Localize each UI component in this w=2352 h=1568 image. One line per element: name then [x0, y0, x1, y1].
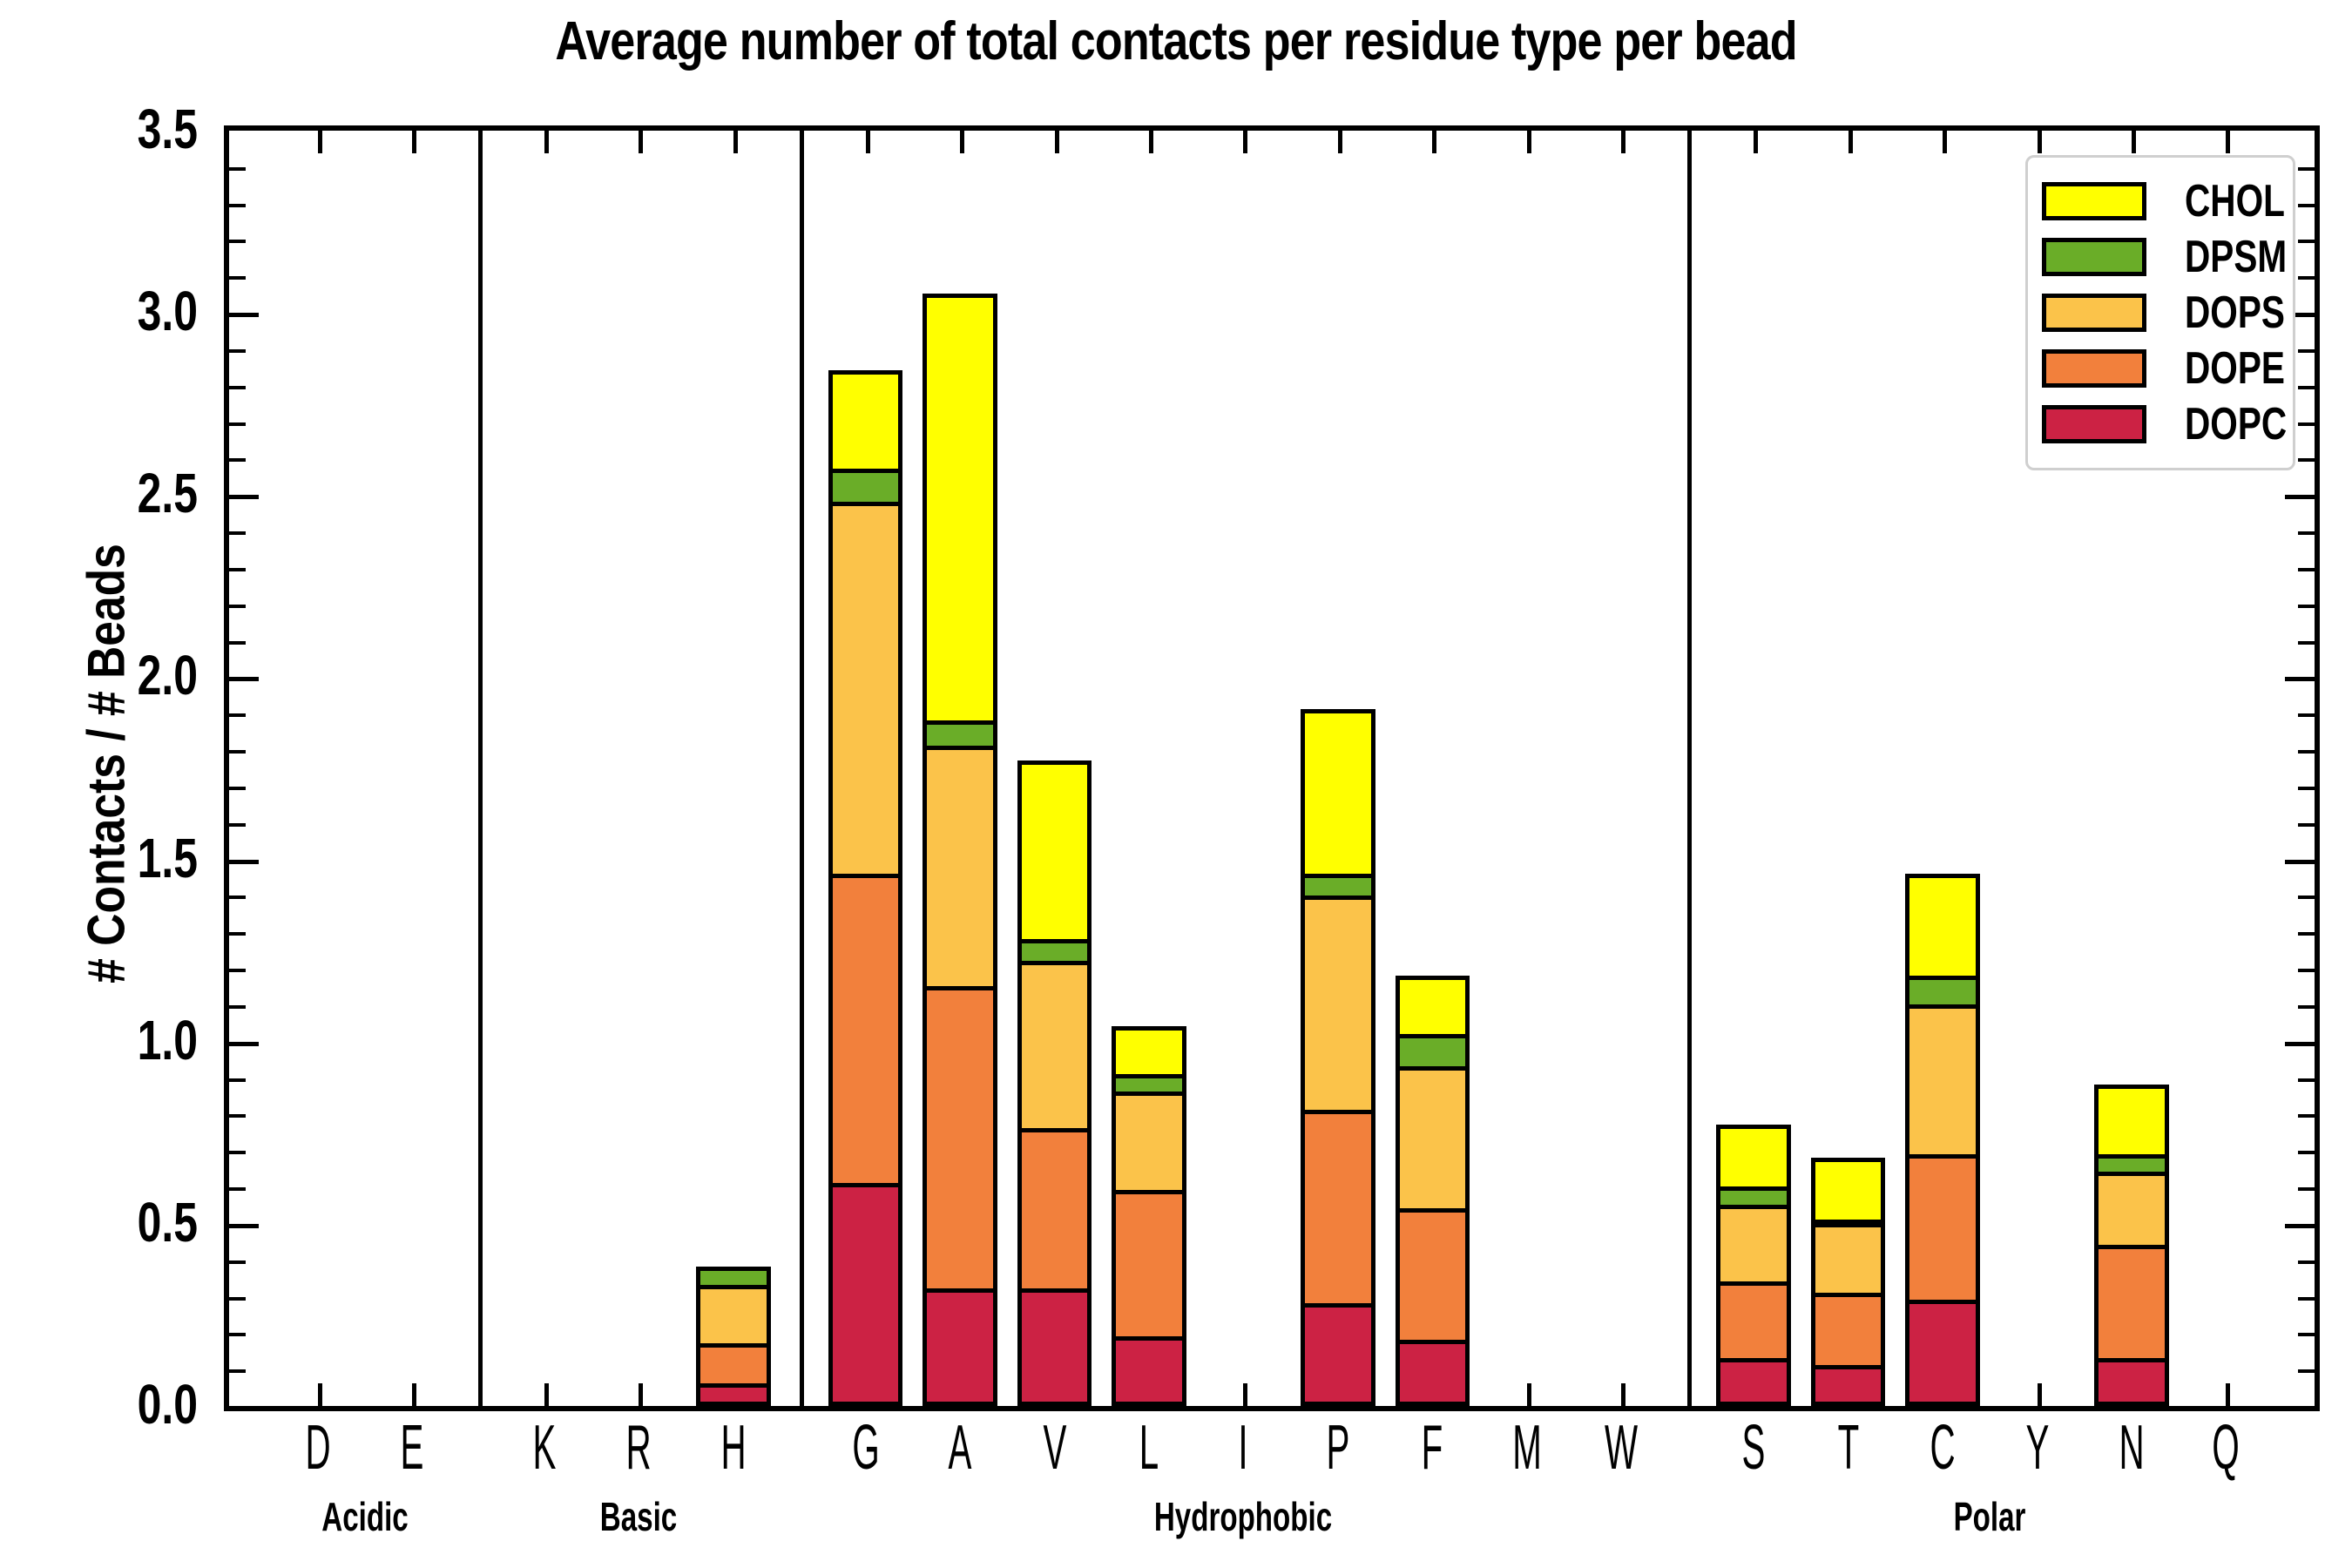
- x-axis-tick-label-Q: Q: [2213, 1416, 2240, 1479]
- x-axis-tick: [412, 131, 416, 153]
- y-axis-minor-tick: [229, 1260, 246, 1264]
- y-axis-minor-tick: [229, 1005, 246, 1009]
- group-label-acidic: Acidic: [321, 1497, 408, 1537]
- bar-segment-N-DOPS[interactable]: [2094, 1172, 2169, 1249]
- legend-item-dops[interactable]: DOPS: [2042, 285, 2281, 341]
- y-axis-minor-tick: [229, 422, 246, 426]
- y-axis-minor-tick: [2298, 531, 2315, 535]
- x-axis-tick: [1243, 1383, 1247, 1406]
- bar-segment-A-DPSM[interactable]: [923, 720, 997, 750]
- bar-segment-A-CHOL[interactable]: [923, 294, 997, 724]
- y-axis-minor-tick: [2298, 167, 2315, 171]
- bar-segment-F-DOPC[interactable]: [1396, 1340, 1470, 1406]
- legend-swatch-dope: [2042, 349, 2146, 388]
- bar-segment-V-DOPC[interactable]: [1017, 1288, 1092, 1406]
- x-axis-tick: [1621, 131, 1625, 153]
- bar-segment-T-DOPS[interactable]: [1811, 1223, 1886, 1296]
- y-axis-minor-tick: [2298, 969, 2315, 972]
- y-axis-major-tick: [2285, 1042, 2315, 1046]
- x-axis-tick: [544, 1383, 549, 1406]
- y-axis-minor-tick: [229, 204, 246, 207]
- y-axis-minor-tick: [2298, 1151, 2315, 1154]
- x-axis-tick: [318, 131, 322, 153]
- bar-V[interactable]: [1017, 765, 1092, 1406]
- y-axis-minor-tick: [229, 823, 246, 827]
- y-axis-minor-tick: [2298, 422, 2315, 426]
- group-divider: [1687, 131, 1692, 1406]
- x-axis-tick-label-H: H: [720, 1416, 746, 1479]
- y-axis-tick-label: 3.5: [138, 101, 198, 157]
- x-axis-tick-label-L: L: [1139, 1416, 1159, 1479]
- y-axis-minor-tick: [2298, 896, 2315, 899]
- x-axis-tick-label-P: P: [1326, 1416, 1349, 1479]
- bar-segment-T-CHOL[interactable]: [1811, 1158, 1886, 1224]
- bar-T[interactable]: [1811, 1162, 1886, 1406]
- legend-label-chol: CHOL: [2185, 175, 2285, 227]
- x-axis-tick-label-F: F: [1422, 1416, 1443, 1479]
- y-axis-minor-tick: [2298, 1333, 2315, 1336]
- y-axis-major-tick: [229, 313, 259, 317]
- bar-S[interactable]: [1716, 1132, 1791, 1406]
- y-axis-tick-label: 2.5: [138, 465, 198, 521]
- x-axis-tick-label-V: V: [1043, 1416, 1066, 1479]
- x-axis-tick: [866, 131, 870, 153]
- y-axis-minor-tick: [2298, 1114, 2315, 1118]
- bar-segment-N-DOPE[interactable]: [2094, 1245, 2169, 1362]
- bar-N[interactable]: [2094, 1089, 2169, 1406]
- x-axis-tick-label-K: K: [532, 1416, 556, 1479]
- y-axis-minor-tick: [229, 386, 246, 389]
- y-axis-minor-tick: [2298, 1260, 2315, 1264]
- legend-label-dopc: DOPC: [2185, 398, 2287, 450]
- group-divider: [800, 131, 804, 1406]
- x-axis-tick: [1527, 1383, 1531, 1406]
- y-axis-major-tick: [229, 495, 259, 499]
- bar-segment-T-DOPE[interactable]: [1811, 1293, 1886, 1370]
- bar-L[interactable]: [1112, 1031, 1186, 1406]
- chart-title: Average number of total contacts per res…: [188, 10, 2164, 72]
- x-axis-tick-label-R: R: [626, 1416, 652, 1479]
- x-axis-tick: [733, 131, 738, 153]
- x-axis-tick: [639, 1383, 643, 1406]
- y-axis-minor-tick: [2298, 1369, 2315, 1373]
- x-axis-tick: [2226, 1383, 2230, 1406]
- bar-segment-P-CHOL[interactable]: [1301, 709, 1375, 877]
- y-axis-major-tick: [2285, 677, 2315, 681]
- bar-P[interactable]: [1301, 713, 1375, 1406]
- bar-segment-S-DOPC[interactable]: [1716, 1358, 1791, 1406]
- y-axis-minor-tick: [229, 932, 246, 936]
- y-axis-minor-tick: [229, 605, 246, 608]
- y-axis-tick-labels: 0.00.51.01.52.02.53.03.5: [0, 125, 213, 1411]
- group-label-hydrophobic: Hydrophobic: [1154, 1497, 1332, 1537]
- y-axis-minor-tick: [2298, 458, 2315, 462]
- y-axis-minor-tick: [2298, 1005, 2315, 1009]
- x-axis-tick: [318, 1383, 322, 1406]
- legend: CHOLDPSMDOPSDOPEDOPC: [2025, 155, 2295, 470]
- bar-segment-C-DOPS[interactable]: [1905, 1004, 1980, 1158]
- bar-G[interactable]: [828, 378, 903, 1406]
- y-axis-minor-tick: [2298, 787, 2315, 790]
- bar-segment-C-CHOL[interactable]: [1905, 874, 1980, 980]
- x-axis-tick-label-D: D: [305, 1416, 330, 1479]
- plot-area: [224, 125, 2320, 1411]
- bar-segment-L-DOPC[interactable]: [1112, 1336, 1186, 1406]
- y-axis-tick-label: 0.5: [138, 1194, 198, 1250]
- legend-label-dpsm: DPSM: [2185, 231, 2287, 283]
- bar-segment-F-CHOL[interactable]: [1396, 976, 1470, 1038]
- y-axis-minor-tick: [2298, 641, 2315, 645]
- x-axis-tick-label-Y: Y: [2025, 1416, 2049, 1479]
- x-axis-tick-label-N: N: [2119, 1416, 2144, 1479]
- y-axis-minor-tick: [2298, 1187, 2315, 1191]
- legend-label-dops: DOPS: [2185, 287, 2285, 339]
- bar-segment-N-DOPC[interactable]: [2094, 1358, 2169, 1406]
- x-axis-group-labels: AcidicBasicHydrophobicPolar: [224, 1497, 2320, 1558]
- bar-segment-A-DOPC[interactable]: [923, 1288, 997, 1406]
- bar-segment-G-DPSM[interactable]: [828, 469, 903, 506]
- bar-segment-P-DOPS[interactable]: [1301, 896, 1375, 1115]
- y-axis-minor-tick: [229, 750, 246, 754]
- y-axis-major-tick: [2285, 860, 2315, 864]
- bar-segment-F-DOPE[interactable]: [1396, 1208, 1470, 1344]
- group-divider: [478, 131, 483, 1406]
- x-axis-tick: [1527, 131, 1531, 153]
- legend-swatch-chol: [2042, 182, 2146, 220]
- legend-swatch-dops: [2042, 294, 2146, 332]
- y-axis-minor-tick: [2298, 713, 2315, 717]
- bar-segment-F-DPSM[interactable]: [1396, 1034, 1470, 1071]
- group-label-polar: Polar: [1954, 1497, 2026, 1537]
- x-axis-tick: [1243, 131, 1247, 153]
- y-axis-minor-tick: [2298, 1078, 2315, 1082]
- bar-segment-G-CHOL[interactable]: [828, 370, 903, 473]
- x-axis-tick: [1149, 131, 1153, 153]
- y-axis-minor-tick: [2298, 386, 2315, 389]
- y-axis-minor-tick: [229, 1151, 246, 1154]
- y-axis-minor-tick: [2298, 349, 2315, 353]
- bar-segment-H-DOPS[interactable]: [696, 1285, 771, 1348]
- x-axis-tick: [1754, 131, 1758, 153]
- bar-F[interactable]: [1396, 980, 1470, 1406]
- bar-segment-A-DOPS[interactable]: [923, 746, 997, 990]
- legend-swatch-dpsm: [2042, 238, 2146, 276]
- bar-segment-A-DOPE[interactable]: [923, 986, 997, 1293]
- x-axis-tick: [544, 131, 549, 153]
- y-axis-minor-tick: [229, 641, 246, 645]
- y-axis-tick-label: 3.0: [138, 283, 198, 339]
- y-axis-minor-tick: [229, 349, 246, 353]
- y-axis-minor-tick: [2298, 568, 2315, 571]
- y-axis-minor-tick: [229, 787, 246, 790]
- bar-segment-C-DPSM[interactable]: [1905, 976, 1980, 1009]
- x-axis-tick: [1055, 131, 1059, 153]
- x-axis-tick: [412, 1383, 416, 1406]
- y-axis-major-tick: [229, 677, 259, 681]
- y-axis-minor-tick: [229, 713, 246, 717]
- x-axis-tick: [1621, 1383, 1625, 1406]
- y-axis-minor-tick: [2298, 750, 2315, 754]
- x-axis-tick-label-A: A: [949, 1416, 972, 1479]
- y-axis-tick-label: 2.0: [138, 647, 198, 703]
- bar-H[interactable]: [696, 1271, 771, 1406]
- y-axis-minor-tick: [2298, 605, 2315, 608]
- y-axis-minor-tick: [229, 458, 246, 462]
- y-axis-minor-tick: [229, 969, 246, 972]
- y-axis-minor-tick: [2298, 1297, 2315, 1301]
- x-axis-tick-label-I: I: [1239, 1416, 1248, 1479]
- bar-segment-C-DOPE[interactable]: [1905, 1154, 1980, 1304]
- bar-segment-L-CHOL[interactable]: [1112, 1026, 1186, 1078]
- legend-item-chol[interactable]: CHOL: [2042, 173, 2281, 229]
- bar-segment-S-DOPS[interactable]: [1716, 1205, 1791, 1286]
- bar-segment-T-DOPC[interactable]: [1811, 1365, 1886, 1406]
- y-axis-minor-tick: [229, 896, 246, 899]
- y-axis-major-tick: [2285, 495, 2315, 499]
- y-axis-minor-tick: [229, 1333, 246, 1336]
- bar-segment-S-CHOL[interactable]: [1716, 1125, 1791, 1191]
- y-axis-minor-tick: [229, 240, 246, 243]
- bar-A[interactable]: [923, 298, 997, 1406]
- x-axis-tick-labels: DEKRHGAVLIPFMWSTCYNQ: [224, 1416, 2320, 1495]
- y-axis-minor-tick: [229, 531, 246, 535]
- y-axis-major-tick: [229, 1042, 259, 1046]
- y-axis-major-tick: [229, 860, 259, 864]
- y-axis-minor-tick: [229, 568, 246, 571]
- y-axis-minor-tick: [2298, 823, 2315, 827]
- group-label-basic: Basic: [600, 1497, 677, 1537]
- plot-inner: [229, 131, 2315, 1406]
- y-axis-tick-label: 1.5: [138, 830, 198, 886]
- bar-segment-H-DPSM[interactable]: [696, 1267, 771, 1289]
- y-axis-tick-label: 0.0: [138, 1376, 198, 1432]
- bar-segment-F-DOPS[interactable]: [1396, 1066, 1470, 1213]
- y-axis-minor-tick: [229, 1369, 246, 1373]
- x-axis-tick: [2132, 131, 2136, 153]
- x-axis-tick: [639, 131, 643, 153]
- bar-segment-L-DOPE[interactable]: [1112, 1190, 1186, 1340]
- bar-C[interactable]: [1905, 878, 1980, 1407]
- x-axis-tick-label-C: C: [1930, 1416, 1956, 1479]
- y-axis-minor-tick: [2298, 240, 2315, 243]
- legend-swatch-dopc: [2042, 405, 2146, 443]
- chart-root: Average number of total contacts per res…: [0, 0, 2352, 1568]
- y-axis-major-tick: [229, 1224, 259, 1228]
- bar-segment-P-DOPC[interactable]: [1301, 1303, 1375, 1406]
- y-axis-minor-tick: [229, 1297, 246, 1301]
- y-axis-minor-tick: [229, 1078, 246, 1082]
- x-axis-tick: [1338, 131, 1342, 153]
- x-axis-tick-label-T: T: [1837, 1416, 1859, 1479]
- bar-segment-V-CHOL[interactable]: [1017, 760, 1092, 943]
- bar-segment-G-DOPC[interactable]: [828, 1183, 903, 1406]
- y-axis-minor-tick: [2298, 204, 2315, 207]
- y-axis-minor-tick: [229, 276, 246, 280]
- bar-segment-G-DOPS[interactable]: [828, 502, 903, 878]
- x-axis-tick: [1432, 131, 1436, 153]
- x-axis-tick-label-S: S: [1742, 1416, 1766, 1479]
- bar-segment-N-CHOL[interactable]: [2094, 1085, 2169, 1158]
- x-axis-tick-label-M: M: [1512, 1416, 1542, 1479]
- legend-label-dope: DOPE: [2185, 342, 2285, 395]
- y-axis-minor-tick: [229, 1187, 246, 1191]
- x-axis-tick: [2038, 131, 2042, 153]
- x-axis-tick-label-G: G: [852, 1416, 879, 1479]
- bar-segment-P-DOPE[interactable]: [1301, 1110, 1375, 1308]
- y-axis-minor-tick: [2298, 276, 2315, 280]
- legend-item-dpsm[interactable]: DPSM: [2042, 229, 2281, 285]
- y-axis-major-tick: [2285, 1224, 2315, 1228]
- y-axis-minor-tick: [229, 167, 246, 171]
- x-axis-tick: [1943, 131, 1947, 153]
- legend-item-dope[interactable]: DOPE: [2042, 341, 2281, 396]
- bar-segment-G-DOPE[interactable]: [828, 874, 903, 1188]
- bar-segment-L-DOPS[interactable]: [1112, 1092, 1186, 1194]
- legend-item-dopc[interactable]: DOPC: [2042, 396, 2281, 452]
- bar-segment-C-DOPC[interactable]: [1905, 1300, 1980, 1406]
- x-axis-tick-label-W: W: [1605, 1416, 1638, 1479]
- x-axis-tick-label-E: E: [401, 1416, 424, 1479]
- x-axis-tick: [1848, 131, 1853, 153]
- x-axis-tick: [2226, 131, 2230, 153]
- bar-segment-V-DOPS[interactable]: [1017, 961, 1092, 1132]
- bar-segment-H-DOPE[interactable]: [696, 1343, 771, 1388]
- x-axis-tick: [2038, 1383, 2042, 1406]
- y-axis-minor-tick: [2298, 932, 2315, 936]
- bar-segment-S-DOPE[interactable]: [1716, 1281, 1791, 1362]
- bar-segment-V-DOPE[interactable]: [1017, 1128, 1092, 1293]
- y-axis-tick-label: 1.0: [138, 1012, 198, 1068]
- y-axis-minor-tick: [229, 1114, 246, 1118]
- x-axis-tick: [960, 131, 964, 153]
